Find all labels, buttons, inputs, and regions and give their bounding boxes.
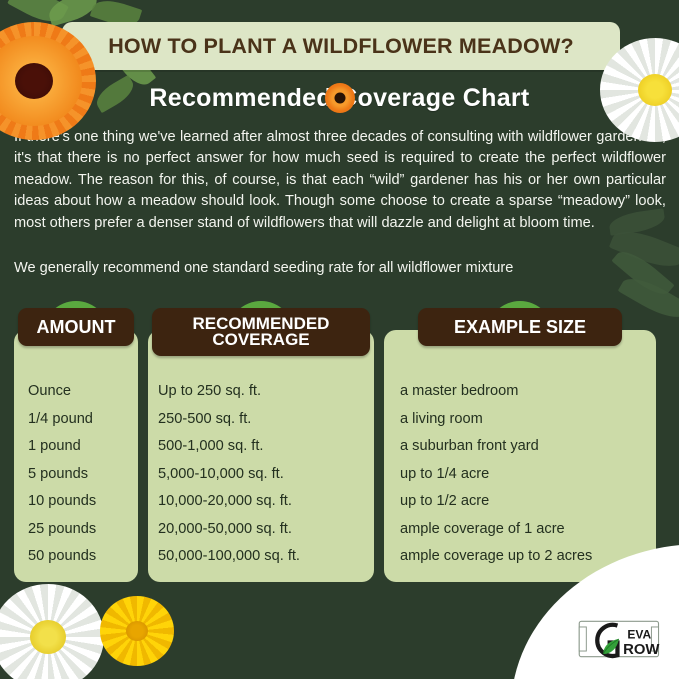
table-cell: 25 pounds xyxy=(28,516,124,544)
table-cell: a living room xyxy=(400,406,642,434)
table-column-coverage: RECOMMENDED COVERAGE Up to 250 sq. ft. 2… xyxy=(148,330,374,582)
daisy-white-top-right-icon xyxy=(600,38,679,142)
intro-paragraph: If there's one thing we've learned after… xyxy=(14,127,666,234)
logo-text-row: ROW xyxy=(623,642,660,658)
column-header-recommended-coverage: RECOMMENDED COVERAGE xyxy=(152,308,370,356)
table-cell: a suburban front yard xyxy=(400,433,642,461)
header-banner: HOW TO PLANT A WILDFLOWER MEADOW? xyxy=(62,22,620,70)
recommendation-paragraph: We generally recommend one standard seed… xyxy=(14,258,666,279)
coverage-cells: Up to 250 sq. ft. 250-500 sq. ft. 500-1,… xyxy=(148,378,374,571)
table-cell: Up to 250 sq. ft. xyxy=(158,378,360,406)
page-title: HOW TO PLANT A WILDFLOWER MEADOW? xyxy=(108,34,574,59)
table-cell: 10,000-20,000 sq. ft. xyxy=(158,488,360,516)
table-cell: up to 1/2 acre xyxy=(400,488,642,516)
table-cell: ample coverage of 1 acre xyxy=(400,516,642,544)
table-cell: 1 pound xyxy=(28,433,124,461)
table-cell: up to 1/4 acre xyxy=(400,461,642,489)
daisy-white-bottom-left-icon xyxy=(0,584,104,679)
example-size-cells: a master bedroom a living room a suburba… xyxy=(384,378,656,571)
amount-cells: Ounce 1/4 pound 1 pound 5 pounds 10 poun… xyxy=(14,378,138,571)
eva-grow-logo-icon: EVA ROW xyxy=(575,613,667,665)
infographic-canvas: HOW TO PLANT A WILDFLOWER MEADOW? Recomm… xyxy=(0,0,679,679)
table-column-example-size: EXAMPLE SIZE a master bedroom a living r… xyxy=(384,330,656,582)
column-header-example-size: EXAMPLE SIZE xyxy=(418,308,622,346)
table-column-amount: AMOUNT Ounce 1/4 pound 1 pound 5 pounds … xyxy=(14,330,138,582)
table-cell: 250-500 sq. ft. xyxy=(158,406,360,434)
table-cell: 50 pounds xyxy=(28,543,124,571)
subtitle-row: Recommended Coverage Chart xyxy=(0,78,679,118)
brand-logo: EVA ROW xyxy=(575,613,667,665)
table-cell: 5 pounds xyxy=(28,461,124,489)
coreopsis-yellow-bottom-left-icon xyxy=(100,596,174,666)
table-cell: 50,000-100,000 sq. ft. xyxy=(158,543,360,571)
calendula-small-orange-icon xyxy=(325,83,355,113)
table-cell: Ounce xyxy=(28,378,124,406)
column-header-amount: AMOUNT xyxy=(18,308,134,346)
calendula-orange-top-left-icon xyxy=(0,22,96,140)
table-cell: 1/4 pound xyxy=(28,406,124,434)
table-cell: 500-1,000 sq. ft. xyxy=(158,433,360,461)
logo-text-eva: EVA xyxy=(627,627,651,641)
table-cell: 20,000-50,000 sq. ft. xyxy=(158,516,360,544)
table-cell: 10 pounds xyxy=(28,488,124,516)
table-cell: 5,000-10,000 sq. ft. xyxy=(158,461,360,489)
table-cell: a master bedroom xyxy=(400,378,642,406)
coverage-table: AMOUNT Ounce 1/4 pound 1 pound 5 pounds … xyxy=(14,330,666,592)
